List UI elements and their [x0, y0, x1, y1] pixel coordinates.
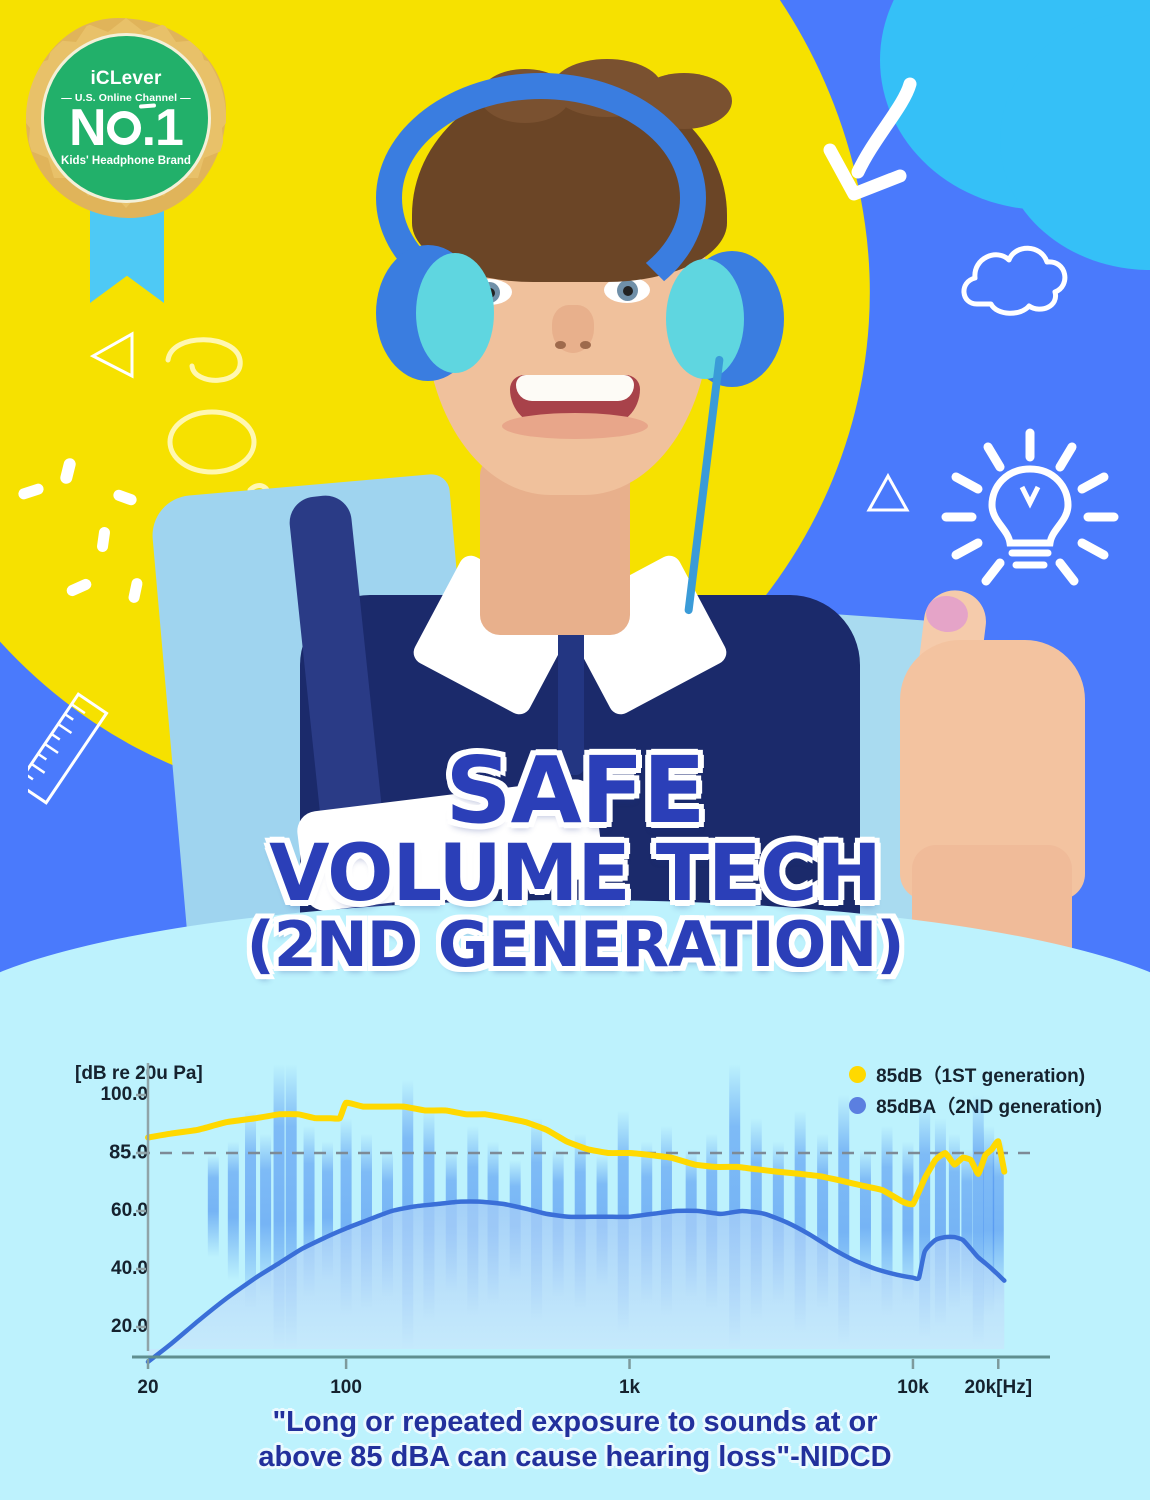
- nidcd-quote: "Long or repeated exposure to sounds at …: [0, 1405, 1150, 1476]
- teeth: [516, 375, 634, 401]
- triangle-doodle-icon: [88, 330, 138, 380]
- badge-rank-suffix: .1: [142, 102, 183, 154]
- headphone-earpad-left: [416, 253, 494, 373]
- badge-tagline: Kids' Headphone Brand: [61, 156, 191, 168]
- headphone-cup-left: [376, 245, 480, 381]
- x-tick-20k: 20k[Hz]: [964, 1377, 1032, 1399]
- no1-badge: iCLever — U.S. Online Channel — N.1 Kids…: [18, 12, 238, 302]
- headline-line-2: VOLUME TECH: [0, 838, 1150, 911]
- nidcd-quote-line-2: above 85 dBA can cause hearing loss"-NID…: [0, 1440, 1150, 1475]
- lower-lip: [502, 413, 648, 439]
- headphone-cup-right: [680, 251, 784, 387]
- x-tick-10k: 10k: [897, 1377, 929, 1399]
- lightbulb-doodle-icon: [930, 425, 1130, 610]
- badge-play-o-icon: [107, 111, 141, 145]
- x-tick-1k: 1k: [619, 1377, 640, 1399]
- nostril-left: [555, 341, 566, 349]
- x-tick-20: 20: [137, 1377, 158, 1399]
- badge-rank-prefix: N: [69, 102, 106, 154]
- badge-rank: N.1: [69, 102, 183, 154]
- cloud-outline-icon: [955, 230, 1075, 322]
- poster-canvas: iCLever — U.S. Online Channel — N.1 Kids…: [0, 0, 1150, 1500]
- nostril-right: [580, 341, 591, 349]
- headline-line-1: SAFE: [0, 748, 1150, 834]
- headphone-earpad-right: [666, 259, 744, 379]
- chart-plot: [0, 1055, 1150, 1415]
- headline-line-3: (2ND GENERATION): [0, 916, 1150, 974]
- page-title: SAFE VOLUME TECH (2ND GENERATION): [0, 748, 1150, 974]
- badge-brand: iCLever: [90, 69, 161, 88]
- nidcd-quote-line-1: "Long or repeated exposure to sounds at …: [0, 1405, 1150, 1440]
- frequency-response-chart: [dB re 20u Pa] 85dB（1ST generation) 85dB…: [0, 1055, 1150, 1415]
- x-tick-100: 100: [330, 1377, 362, 1399]
- badge-circle: iCLever — U.S. Online Channel — N.1 Kids…: [41, 33, 211, 203]
